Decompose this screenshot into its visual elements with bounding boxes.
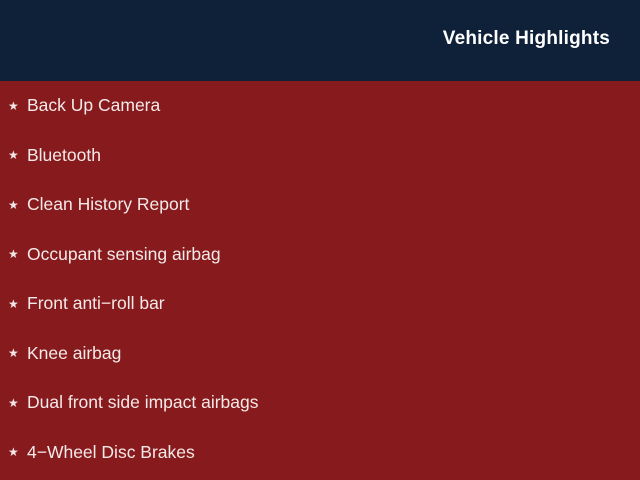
list-item-label: Occupant sensing airbag: [27, 246, 221, 264]
page-title: Vehicle Highlights: [443, 28, 610, 50]
star-icon: ★: [8, 446, 27, 458]
star-icon: ★: [8, 248, 27, 260]
star-icon: ★: [8, 397, 27, 409]
list-item-label: Knee airbag: [27, 345, 121, 363]
star-icon: ★: [8, 199, 27, 211]
list-item: ★ 4−Wheel Disc Brakes: [0, 428, 640, 478]
list-item-label: Bluetooth: [27, 147, 101, 165]
list-item-label: Front anti−roll bar: [27, 295, 165, 313]
highlights-panel: ★ Back Up Camera ★ Bluetooth ★ Clean His…: [0, 81, 640, 480]
list-item-label: Clean History Report: [27, 196, 189, 214]
star-icon: ★: [8, 149, 27, 161]
star-icon: ★: [8, 298, 27, 310]
list-item-label: Back Up Camera: [27, 97, 160, 115]
star-icon: ★: [8, 347, 27, 359]
vehicle-highlights-page: Vehicle Highlights ★ Back Up Camera ★ Bl…: [0, 0, 640, 480]
list-item: ★ Front anti−roll bar: [0, 279, 640, 329]
list-item: ★ Occupant sensing airbag: [0, 230, 640, 280]
highlights-list: ★ Back Up Camera ★ Bluetooth ★ Clean His…: [0, 81, 640, 477]
list-item: ★ Dual front side impact airbags: [0, 378, 640, 428]
page-header: Vehicle Highlights: [0, 0, 640, 81]
list-item-label: 4−Wheel Disc Brakes: [27, 444, 195, 462]
list-item: ★ Clean History Report: [0, 180, 640, 230]
list-item: ★ Bluetooth: [0, 131, 640, 181]
list-item: ★ Back Up Camera: [0, 81, 640, 131]
star-icon: ★: [8, 100, 27, 112]
list-item-label: Dual front side impact airbags: [27, 394, 259, 412]
list-item: ★ Knee airbag: [0, 329, 640, 379]
